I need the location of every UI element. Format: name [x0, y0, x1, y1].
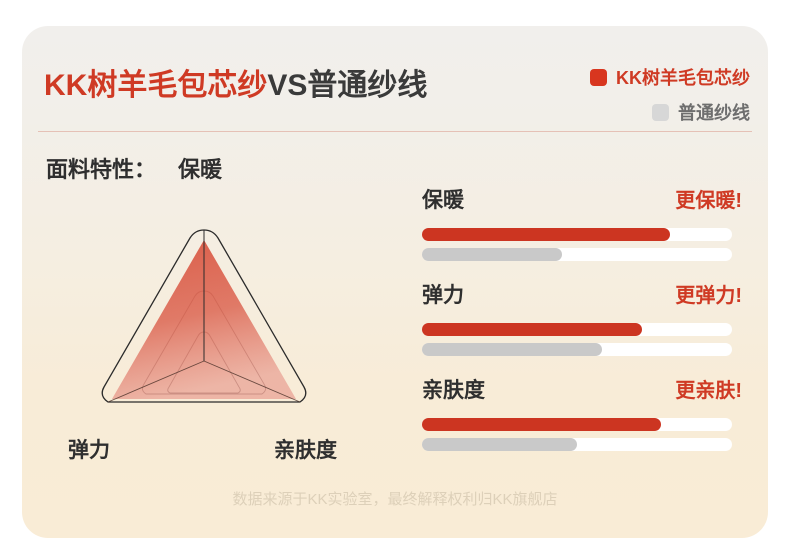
radar-panel: 面料特性：保暖 [22, 138, 408, 478]
footer-note: 数据来源于KK实验室，最终解释权利归KK旗舰店 [22, 488, 768, 509]
legend-label-standard: 普通纱线 [678, 99, 750, 125]
bar-head: 亲肤度 更亲肤! [422, 374, 742, 404]
radar-axis-label-top: 保暖 [178, 157, 222, 182]
legend-item-primary: KK树羊毛包芯纱 [590, 64, 750, 90]
title-brand-text: KK树羊毛包芯纱 [44, 69, 267, 102]
bar-metric-label: 弹力 [422, 279, 464, 309]
radar-chart [74, 216, 334, 446]
bar-track-standard [422, 438, 732, 451]
bar-fill-primary [422, 228, 670, 241]
radar-caption-row: 面料特性：保暖 [46, 152, 222, 184]
bar-track-standard [422, 343, 732, 356]
legend: KK树羊毛包芯纱 普通纱线 [590, 64, 750, 125]
header-divider [38, 131, 752, 132]
legend-item-standard: 普通纱线 [652, 99, 750, 125]
bar-fill-primary [422, 418, 661, 431]
bar-group-warmth: 保暖 更保暖! [422, 184, 742, 268]
comparison-card: KK树羊毛包芯纱VS普通纱线 KK树羊毛包芯纱 普通纱线 面料特性：保暖 [22, 26, 768, 538]
bar-highlight-tag: 更保暖! [675, 184, 742, 213]
radar-caption: 面料特性： [46, 157, 156, 182]
bar-highlight-tag: 更亲肤! [675, 374, 742, 403]
radar-axis-label-right: 亲肤度 [274, 434, 337, 464]
legend-swatch-primary-icon [590, 69, 607, 86]
legend-swatch-standard-icon [652, 104, 669, 121]
bar-fill-standard [422, 343, 602, 356]
screenshot-root: KK树羊毛包芯纱VS普通纱线 KK树羊毛包芯纱 普通纱线 面料特性：保暖 [0, 0, 790, 559]
bar-fill-standard [422, 438, 577, 451]
page-title: KK树羊毛包芯纱VS普通纱线 [44, 60, 427, 104]
radar-axis-label-left: 弹力 [68, 434, 110, 464]
bar-fill-standard [422, 248, 562, 261]
bar-track-standard [422, 248, 732, 261]
bar-track-primary [422, 228, 732, 241]
bars-panel: 保暖 更保暖! 弹力 更弹力! [408, 138, 768, 478]
legend-label-primary: KK树羊毛包芯纱 [616, 64, 750, 90]
bar-track-primary [422, 418, 732, 431]
bar-head: 弹力 更弹力! [422, 279, 742, 309]
title-vs-text: VS普通纱线 [267, 69, 427, 102]
bar-metric-label: 亲肤度 [422, 374, 485, 404]
bar-track-primary [422, 323, 732, 336]
bar-group-elasticity: 弹力 更弹力! [422, 279, 742, 363]
bar-head: 保暖 更保暖! [422, 184, 742, 214]
bar-group-skinfriendly: 亲肤度 更亲肤! [422, 374, 742, 458]
bar-highlight-tag: 更弹力! [675, 279, 742, 308]
card-body: 面料特性：保暖 [22, 138, 768, 478]
bar-metric-label: 保暖 [422, 184, 464, 214]
bar-fill-primary [422, 323, 642, 336]
